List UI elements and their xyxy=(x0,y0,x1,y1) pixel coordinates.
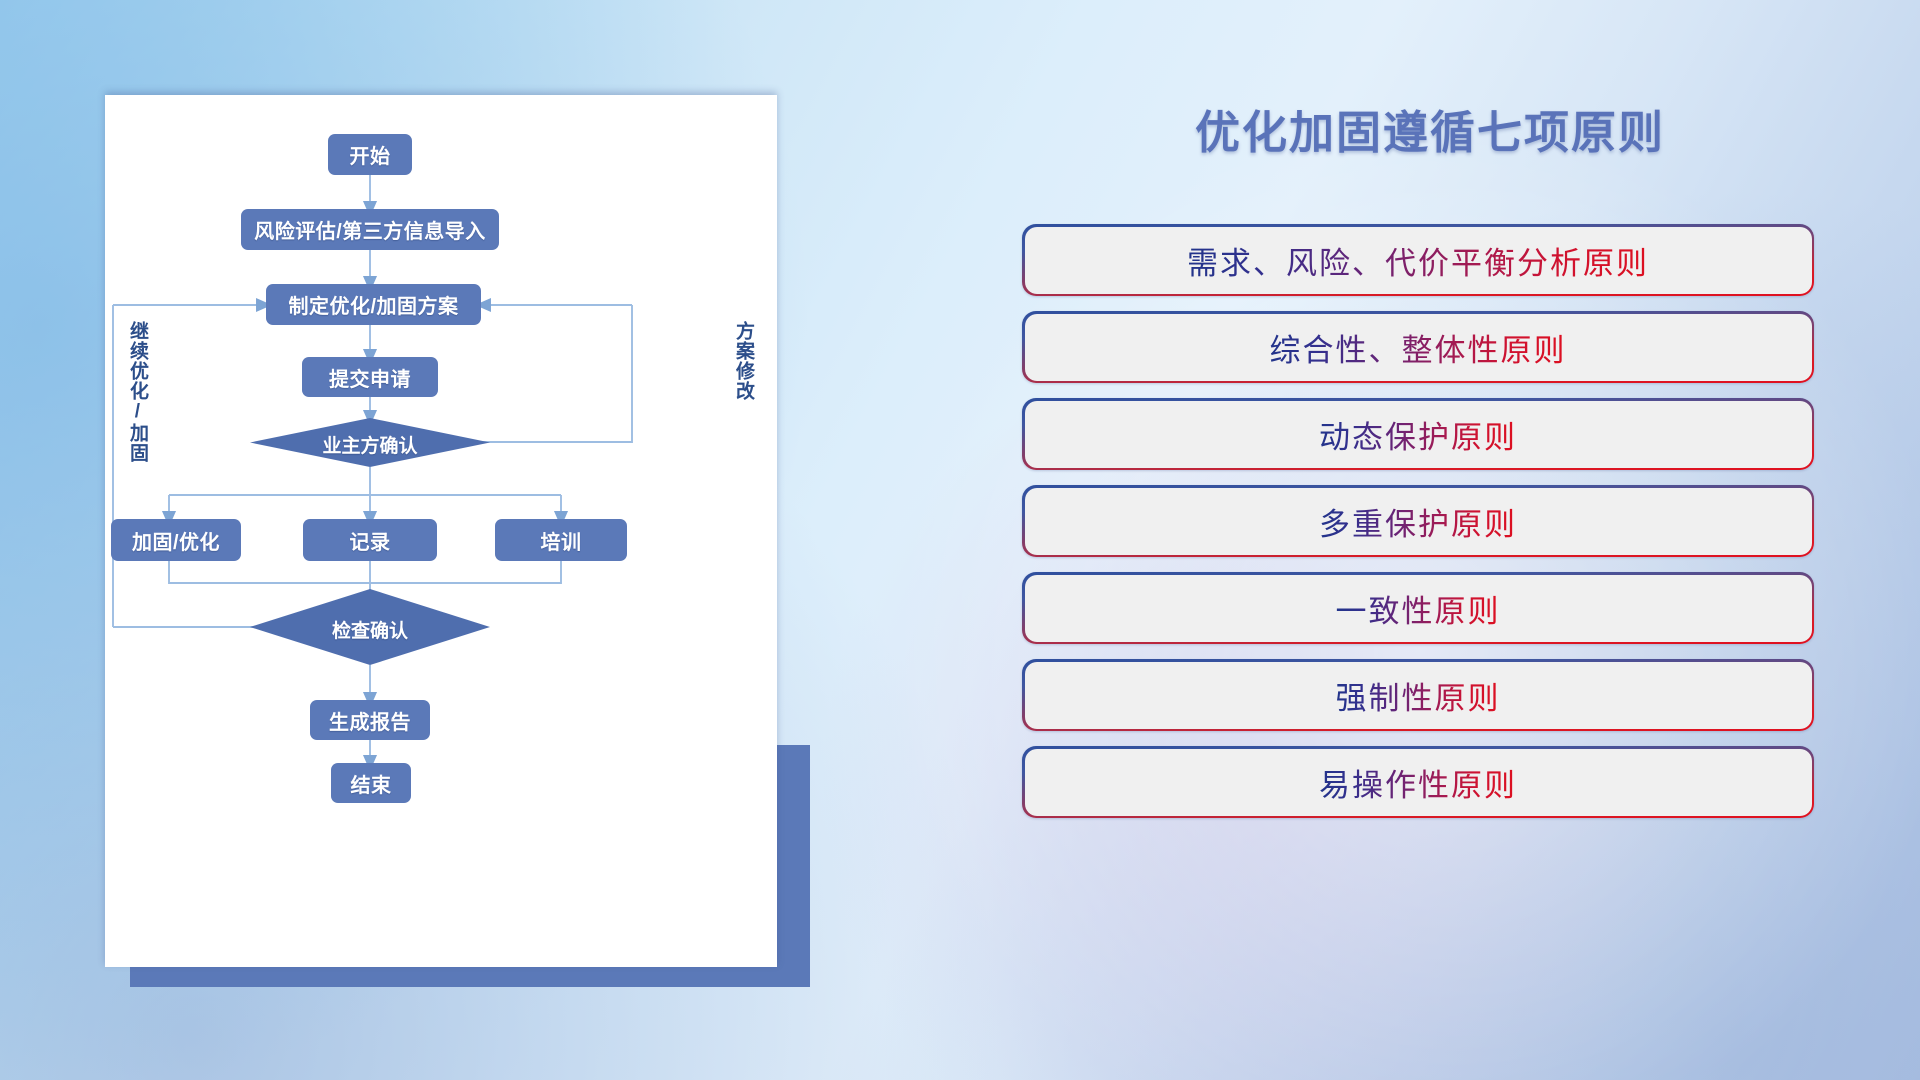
principle-item-6[interactable]: 强制性原则 xyxy=(1022,659,1814,731)
flow-node-risk-assessment[interactable]: 风险评估/第三方信息导入 xyxy=(241,209,499,250)
flowchart-card: 开始 风险评估/第三方信息导入 制定优化/加固方案 提交申请 业主方确认 加固/… xyxy=(105,95,777,967)
principle-item-4[interactable]: 多重保护原则 xyxy=(1022,485,1814,557)
principle-item-7[interactable]: 易操作性原则 xyxy=(1022,746,1814,818)
flow-node-label: 记录 xyxy=(350,526,391,555)
principle-item-surface: 需求、风险、代价平衡分析原则 xyxy=(1025,227,1812,294)
principle-label: 多重保护原则 xyxy=(1319,499,1517,544)
flow-edge-label-text: 方案修改 xyxy=(733,321,754,401)
flow-node-submit-application[interactable]: 提交申请 xyxy=(302,357,438,397)
flow-node-owner-confirm-label[interactable]: 业主方确认 xyxy=(312,431,428,458)
flow-node-label: 培训 xyxy=(541,526,582,555)
principle-item-surface: 一致性原则 xyxy=(1025,575,1812,642)
principles-list: 需求、风险、代价平衡分析原则 综合性、整体性原则 动态保护原则 多重保护原则 一… xyxy=(1022,224,1814,833)
flow-node-end[interactable]: 结束 xyxy=(331,763,411,803)
flow-node-label: 制定优化/加固方案 xyxy=(288,290,458,319)
principle-item-surface: 易操作性原则 xyxy=(1025,749,1812,816)
flow-node-training[interactable]: 培训 xyxy=(495,519,627,561)
flow-node-label: 生成报告 xyxy=(329,706,411,735)
flow-node-label: 检查确认 xyxy=(332,621,408,642)
principle-item-surface: 综合性、整体性原则 xyxy=(1025,314,1812,381)
principle-label: 强制性原则 xyxy=(1336,673,1501,718)
flow-node-label: 提交申请 xyxy=(329,363,411,392)
flow-node-label: 风险评估/第三方信息导入 xyxy=(254,215,486,244)
principle-label: 动态保护原则 xyxy=(1319,412,1517,457)
flow-edge-label-text: 继续优化/加固 xyxy=(127,321,148,463)
flow-node-plan[interactable]: 制定优化/加固方案 xyxy=(266,284,481,325)
card-offset-accent-horizontal xyxy=(130,965,810,987)
principle-item-5[interactable]: 一致性原则 xyxy=(1022,572,1814,644)
flow-node-start[interactable]: 开始 xyxy=(328,134,412,175)
principle-label: 易操作性原则 xyxy=(1319,760,1517,805)
flow-node-record[interactable]: 记录 xyxy=(303,519,437,561)
flow-node-reinforce-optimize[interactable]: 加固/优化 xyxy=(111,519,241,561)
principle-item-surface: 动态保护原则 xyxy=(1025,401,1812,468)
flow-node-label: 开始 xyxy=(350,140,391,169)
principle-item-3[interactable]: 动态保护原则 xyxy=(1022,398,1814,470)
principle-item-surface: 强制性原则 xyxy=(1025,662,1812,729)
flow-node-label: 结束 xyxy=(351,769,392,798)
flow-edge-label-plan-revision: 方案修改 xyxy=(733,321,753,401)
page-title: 优化加固遵循七项原则 xyxy=(1020,96,1840,161)
principle-label: 一致性原则 xyxy=(1336,586,1501,631)
flow-node-label: 业主方确认 xyxy=(322,436,417,457)
flow-node-generate-report[interactable]: 生成报告 xyxy=(310,700,430,740)
flow-node-check-confirm-label[interactable]: 检查确认 xyxy=(312,616,428,643)
principle-item-2[interactable]: 综合性、整体性原则 xyxy=(1022,311,1814,383)
principle-label: 综合性、整体性原则 xyxy=(1270,325,1567,370)
principle-item-1[interactable]: 需求、风险、代价平衡分析原则 xyxy=(1022,224,1814,296)
principle-label: 需求、风险、代价平衡分析原则 xyxy=(1187,238,1649,283)
flow-node-label: 加固/优化 xyxy=(132,526,220,555)
principles-panel: 优化加固遵循七项原则 需求、风险、代价平衡分析原则 综合性、整体性原则 动态保护… xyxy=(1020,96,1840,986)
flow-edge-label-continue-optimize: 继续优化/加固 xyxy=(127,321,147,463)
page-title-text: 优化加固遵循七项原则 xyxy=(1195,107,1665,158)
principle-item-surface: 多重保护原则 xyxy=(1025,488,1812,555)
